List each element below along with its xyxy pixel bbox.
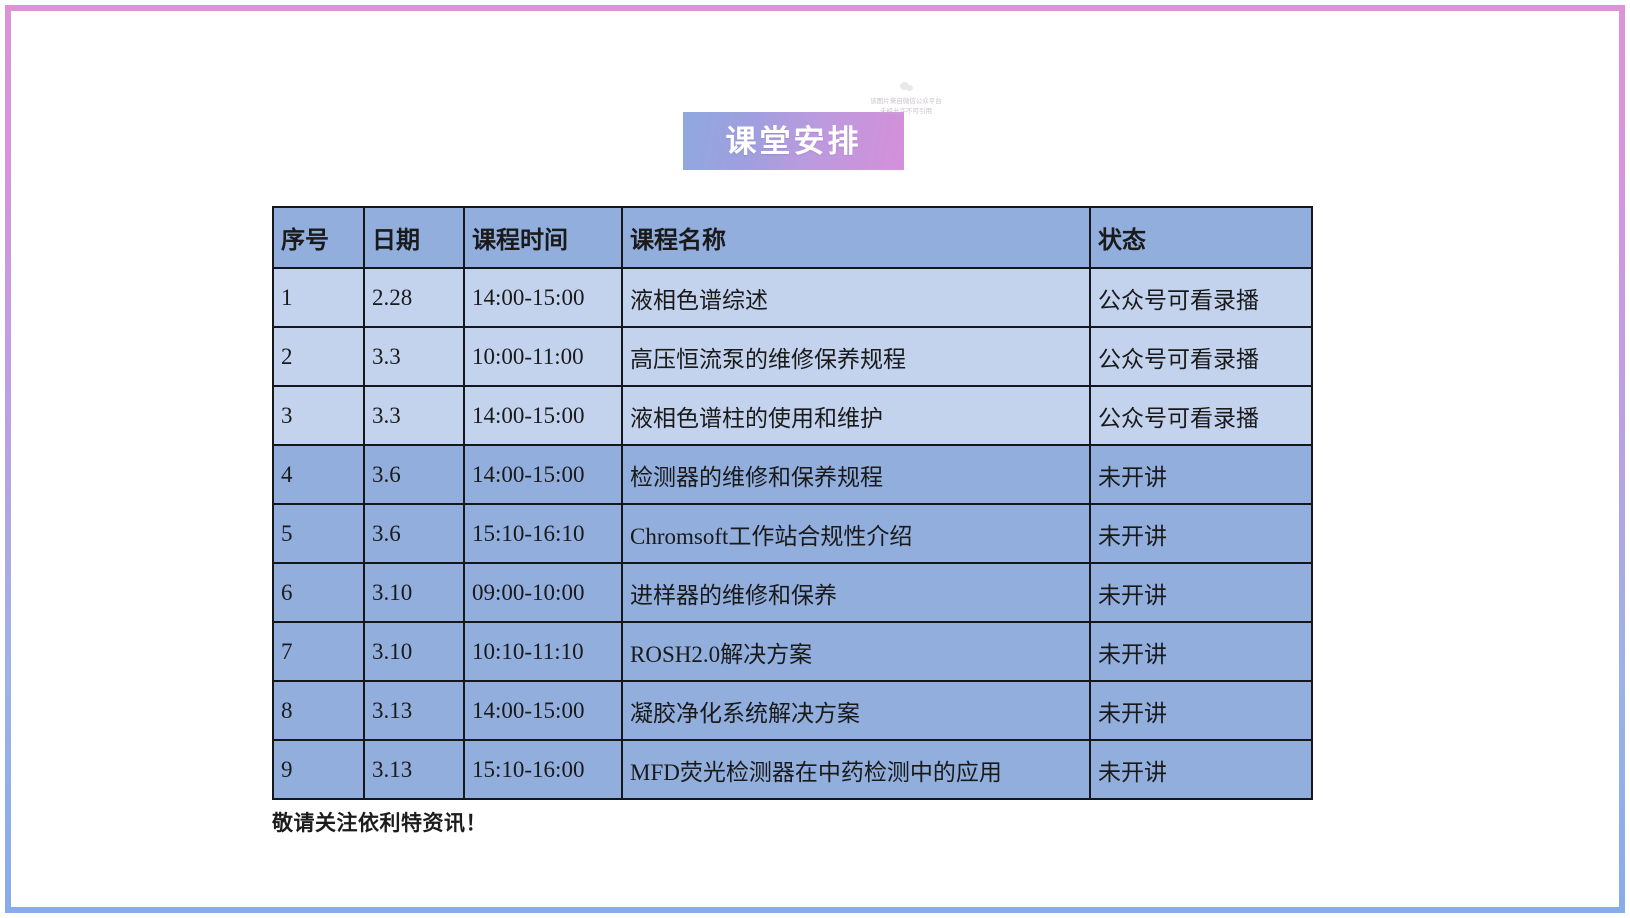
cell-status: 未开讲 [1090,681,1312,740]
cell-date: 2.28 [364,268,464,327]
cell-date: 3.13 [364,681,464,740]
table-row: 8 3.13 14:00-15:00 凝胶净化系统解决方案 未开讲 [273,681,1312,740]
cell-index: 1 [273,268,364,327]
cell-date: 3.6 [364,504,464,563]
column-header-index: 序号 [273,207,364,268]
cell-time: 14:00-15:00 [464,445,622,504]
cell-index: 3 [273,386,364,445]
table-row: 5 3.6 15:10-16:10 Chromsoft工作站合规性介绍 未开讲 [273,504,1312,563]
cell-status: 公众号可看录播 [1090,268,1312,327]
cell-date: 3.3 [364,386,464,445]
cell-status: 未开讲 [1090,563,1312,622]
class-schedule-table: 序号 日期 课程时间 课程名称 状态 1 2.28 14:00-15:00 液相… [272,206,1313,800]
cell-index: 2 [273,327,364,386]
cell-index: 8 [273,681,364,740]
cell-name: 凝胶净化系统解决方案 [622,681,1090,740]
table-row: 2 3.3 10:00-11:00 高压恒流泵的维修保养规程 公众号可看录播 [273,327,1312,386]
table-row: 9 3.13 15:10-16:00 MFD荧光检测器在中药检测中的应用 未开讲 [273,740,1312,799]
cell-date: 3.3 [364,327,464,386]
cell-time: 10:00-11:00 [464,327,622,386]
cell-time: 15:10-16:00 [464,740,622,799]
cell-status: 未开讲 [1090,445,1312,504]
cell-name: 检测器的维修和保养规程 [622,445,1090,504]
cell-date: 3.13 [364,740,464,799]
table-row: 1 2.28 14:00-15:00 液相色谱综述 公众号可看录播 [273,268,1312,327]
table-row: 3 3.3 14:00-15:00 液相色谱柱的使用和维护 公众号可看录播 [273,386,1312,445]
cell-index: 6 [273,563,364,622]
cell-status: 公众号可看录播 [1090,386,1312,445]
cell-name: 进样器的维修和保养 [622,563,1090,622]
cell-status: 未开讲 [1090,740,1312,799]
cell-time: 15:10-16:10 [464,504,622,563]
cell-status: 公众号可看录播 [1090,327,1312,386]
cell-time: 14:00-15:00 [464,268,622,327]
page-title: 课堂安排 [726,126,862,157]
cell-time: 09:00-10:00 [464,563,622,622]
column-header-time: 课程时间 [464,207,622,268]
cell-name: Chromsoft工作站合规性介绍 [622,504,1090,563]
cell-time: 14:00-15:00 [464,681,622,740]
cell-name: 液相色谱综述 [622,268,1090,327]
cell-name: 高压恒流泵的维修保养规程 [622,327,1090,386]
cell-index: 7 [273,622,364,681]
cell-time: 10:10-11:10 [464,622,622,681]
table-header-row: 序号 日期 课程时间 课程名称 状态 [273,207,1312,268]
cell-name: MFD荧光检测器在中药检测中的应用 [622,740,1090,799]
cell-time: 14:00-15:00 [464,386,622,445]
title-banner: 课堂安排 [683,112,904,170]
cell-status: 未开讲 [1090,622,1312,681]
cell-status: 未开讲 [1090,504,1312,563]
cell-index: 5 [273,504,364,563]
cell-date: 3.6 [364,445,464,504]
cell-index: 4 [273,445,364,504]
chat-bubbles-icon [866,75,946,97]
footer-note: 敬请关注依利特资讯！ [272,807,487,837]
cell-index: 9 [273,740,364,799]
column-header-date: 日期 [364,207,464,268]
cell-date: 3.10 [364,622,464,681]
table-row: 4 3.6 14:00-15:00 检测器的维修和保养规程 未开讲 [273,445,1312,504]
table-row: 6 3.10 09:00-10:00 进样器的维修和保养 未开讲 [273,563,1312,622]
cell-name: ROSH2.0解决方案 [622,622,1090,681]
cell-name: 液相色谱柱的使用和维护 [622,386,1090,445]
cell-date: 3.10 [364,563,464,622]
page-content-area: 课堂安排 该图片来自微信公众平台 未经允许不可引用 序号 日期 课程时间 课程名… [11,11,1619,907]
page-gradient-frame: 课堂安排 该图片来自微信公众平台 未经允许不可引用 序号 日期 课程时间 课程名… [5,5,1625,913]
column-header-status: 状态 [1090,207,1312,268]
column-header-name: 课程名称 [622,207,1090,268]
watermark-line-1: 该图片来自微信公众平台 [866,97,946,107]
table-row: 7 3.10 10:10-11:10 ROSH2.0解决方案 未开讲 [273,622,1312,681]
